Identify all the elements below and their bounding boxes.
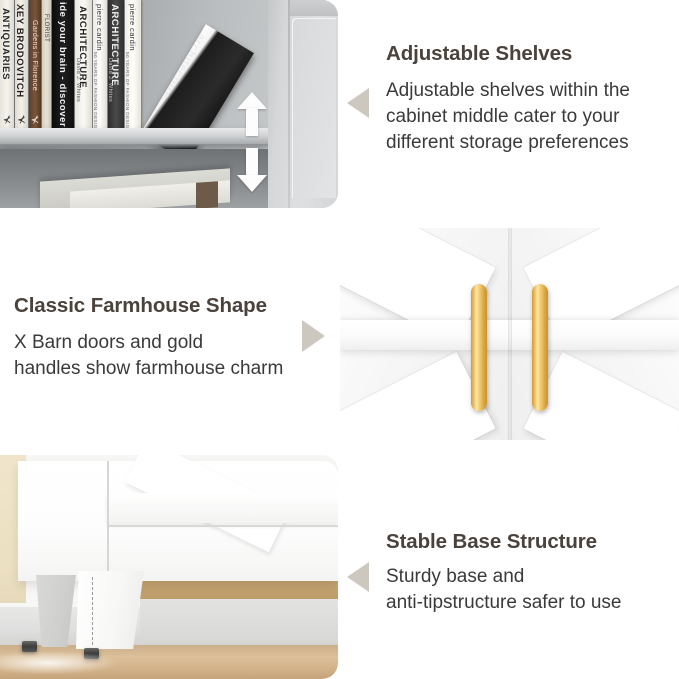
- book-spine: pierre cardin 50 YEARS OF FASHION DESIGN: [93, 0, 107, 132]
- feature-text-stable-base-structure: Stable Base Structure Sturdy base and an…: [386, 530, 676, 616]
- book-spine: Gardens in Florence ⊀: [29, 0, 41, 132]
- book-spine: ARCHITECTURE David J. Whites: [108, 0, 124, 132]
- feature-heading: Adjustable Shelves: [386, 42, 676, 66]
- leg-seam-dashed: [92, 577, 93, 645]
- adjustable-shelf-board: [0, 128, 268, 144]
- lower-shelf-book-dark: [196, 181, 218, 208]
- gold-handle-right[interactable]: [532, 284, 548, 411]
- cabinet-drawer-seam: [107, 525, 338, 527]
- cabinet-leg-front: [76, 571, 144, 649]
- barn-doors-photo: [340, 228, 679, 440]
- bookshelf-photo: ANTIQUARIES ⊀ XEY BRODOVITCH ⊀ Gardens i…: [0, 0, 338, 208]
- book-spine: ide your brain - discover secrets: [52, 0, 74, 132]
- arrow-up-icon: [237, 92, 267, 136]
- cabinet-side-door: [292, 18, 336, 198]
- feature-text-adjustable-shelves: Adjustable Shelves Adjustable shelves wi…: [386, 42, 676, 156]
- book-spine: FLORIST: [42, 0, 51, 132]
- feature-body: Adjustable shelves within the cabinet mi…: [386, 78, 676, 156]
- feature-body: Sturdy base and anti-tipstructure safer …: [386, 564, 676, 616]
- cabinet-side-seam: [107, 461, 109, 581]
- pointer-triangle-left-shelves: [347, 88, 369, 118]
- cabinet-frame-top: [288, 0, 338, 16]
- feature-heading: Stable Base Structure: [386, 530, 676, 554]
- pointer-triangle-left-base: [347, 562, 369, 592]
- cabinet-drawer-rail: [107, 493, 338, 523]
- infographic-root: ANTIQUARIES ⊀ XEY BRODOVITCH ⊀ Gardens i…: [0, 0, 679, 679]
- book-spine: ANTIQUARIES ⊀: [0, 0, 14, 132]
- feature-heading: Classic Farmhouse Shape: [14, 294, 334, 318]
- floor-light-reflection: [0, 651, 120, 675]
- gold-handle-left[interactable]: [471, 284, 487, 411]
- feature-body: X Barn doors and gold handles show farmh…: [14, 330, 334, 382]
- door-center-gap: [508, 228, 512, 440]
- base-structure-photo: [0, 455, 338, 679]
- arrow-down-icon: [237, 148, 267, 192]
- under-cabinet-floor: [140, 599, 338, 643]
- book-spine: pierre cardin 50 YEARS OF FASHION DESIGN: [125, 0, 141, 132]
- feature-text-classic-farmhouse-shape: Classic Farmhouse Shape X Barn doors and…: [14, 294, 334, 382]
- cabinet-frame-seam: [288, 0, 290, 208]
- book-spine: XEY BRODOVITCH ⊀: [15, 0, 28, 132]
- book-spine: ARCHITECTURE David J. Whites: [75, 0, 92, 132]
